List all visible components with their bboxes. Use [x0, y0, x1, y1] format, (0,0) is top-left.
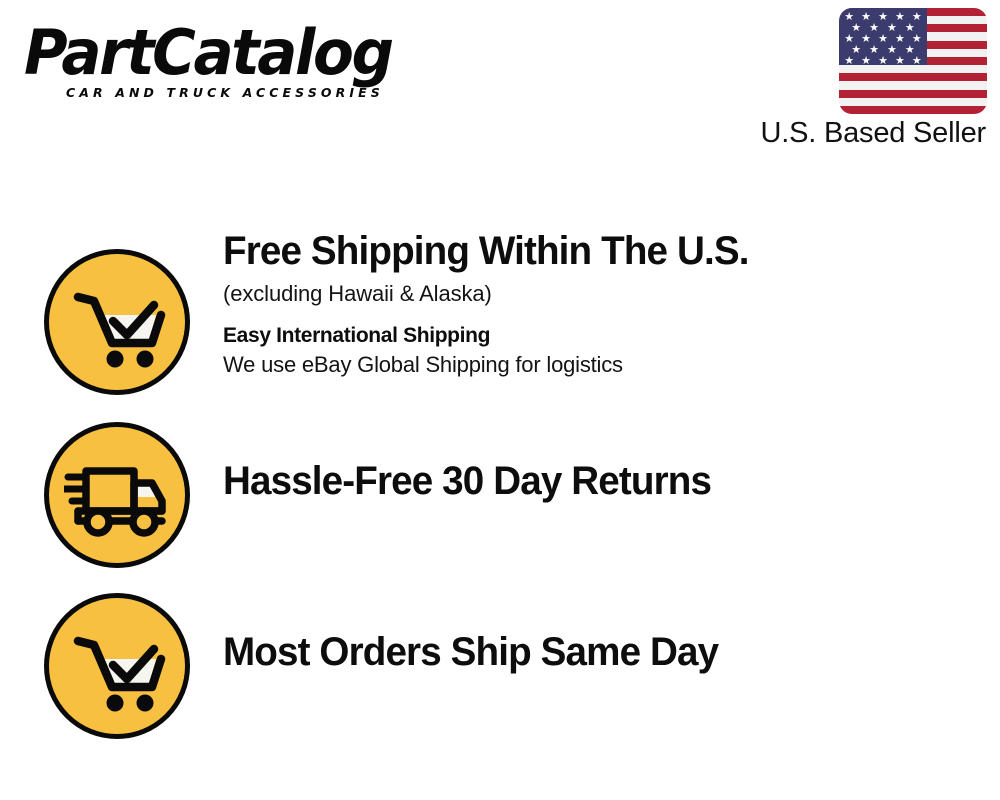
- feature-icon-badge: [44, 422, 190, 568]
- feature-subnote: (excluding Hawaii & Alaska): [223, 280, 990, 308]
- feature-row: Free Shipping Within The U.S. (excluding…: [0, 230, 1000, 400]
- flag-star-icon: ★: [844, 56, 854, 67]
- banner-page: PartCatalog CAR AND TRUCK ACCESSORIES: [0, 0, 1000, 800]
- feature-headline: Free Shipping Within The U.S.: [223, 230, 963, 273]
- feature-row: Hassle-Free 30 Day Returns: [0, 422, 1000, 572]
- feature-icon-badge: [44, 593, 190, 739]
- feature-subline: We use eBay Global Shipping for logistic…: [223, 351, 990, 379]
- feature-headline: Most Orders Ship Same Day: [223, 631, 963, 674]
- us-flag-icon: ★★★★★★★★★★★★★★★★★★★★★★★: [839, 8, 987, 114]
- banner-header: PartCatalog CAR AND TRUCK ACCESSORIES: [0, 0, 1000, 175]
- feature-row: Most Orders Ship Same Day: [0, 593, 1000, 743]
- feature-text: Free Shipping Within The U.S. (excluding…: [223, 230, 990, 378]
- flag-canton: ★★★★★★★★★★★★★★★★★★★★★★★: [839, 8, 927, 65]
- feature-text: Most Orders Ship Same Day: [223, 631, 990, 674]
- brand-logo-wordmark: PartCatalog: [24, 22, 475, 84]
- feature-icon-badge: [44, 249, 190, 395]
- us-based-seller-label: U.S. Based Seller: [761, 117, 987, 150]
- flag-star-icon: ★: [912, 56, 922, 67]
- flag-star-icon: ★: [895, 56, 905, 67]
- flag-stripe: [839, 106, 987, 114]
- flag-stripe: [839, 90, 987, 98]
- flag-star-icon: ★: [878, 56, 888, 67]
- flag-stripe: [839, 81, 987, 89]
- flag-star-icon: ★: [861, 56, 871, 67]
- feature-headline: Hassle-Free 30 Day Returns: [223, 460, 963, 503]
- flag-star-grid: ★★★★★★★★★★★★★★★★★★★★★★★: [844, 12, 921, 60]
- feature-text: Hassle-Free 30 Day Returns: [223, 460, 990, 503]
- flag-stripe: [839, 73, 987, 81]
- brand-logo: PartCatalog CAR AND TRUCK ACCESSORIES: [24, 22, 494, 100]
- us-flag-badge: ★★★★★★★★★★★★★★★★★★★★★★★: [839, 8, 987, 114]
- flag-star-row: ★★★★★: [844, 56, 921, 67]
- feature-subheadline: Easy International Shipping: [223, 323, 990, 349]
- flag-stripe: [839, 98, 987, 106]
